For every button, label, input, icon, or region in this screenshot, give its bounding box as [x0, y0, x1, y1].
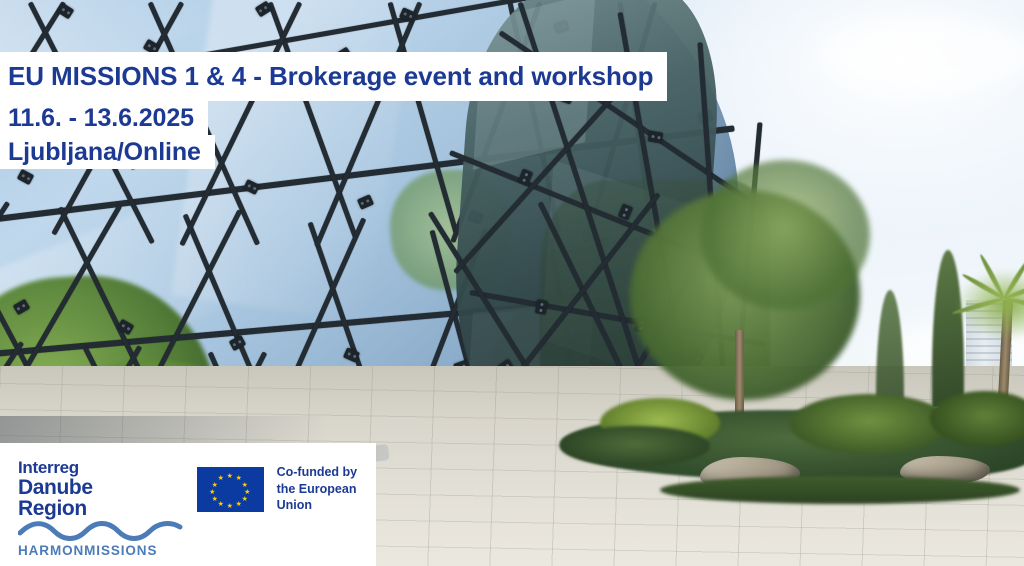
headline-line-3-panel: Ljubljana/Online [0, 135, 215, 169]
european-union-flag-icon: ★ ★ ★ ★ ★ ★ ★ ★ ★ ★ ★ ★ [197, 467, 264, 512]
harmonmissions-logo: HARMONMISSIONS [18, 519, 188, 558]
hedge [560, 426, 710, 466]
headline-line-1-panel: EU MISSIONS 1 & 4 - Brokerage event and … [0, 52, 667, 101]
headline-line-1: EU MISSIONS 1 & 4 - Brokerage event and … [8, 61, 653, 92]
event-banner: EU MISSIONS 1 & 4 - Brokerage event and … [0, 0, 1024, 566]
headline-line-2-panel: 11.6. - 13.6.2025 [0, 101, 208, 135]
interreg-danube-region-logo: Interreg Danube Region [18, 459, 143, 519]
ornamental-grass [790, 394, 950, 454]
eu-funding-line-1: Co-funded by [277, 464, 376, 481]
harmonmissions-wordmark: HARMONMISSIONS [18, 543, 188, 558]
tree-canopy [700, 160, 870, 310]
eu-funding-line-2: the European Union [277, 481, 376, 514]
logo-panel: Interreg Danube Region ★ ★ ★ ★ ★ ★ ★ ★ ★… [0, 443, 376, 566]
headline-line-3: Ljubljana/Online [8, 138, 201, 167]
wave-icon [18, 519, 184, 541]
groundcover [660, 476, 1020, 504]
logo-row: Interreg Danube Region ★ ★ ★ ★ ★ ★ ★ ★ ★… [18, 459, 376, 519]
interreg-wordmark: Interreg [18, 459, 143, 476]
danube-region-wordmark: Danube Region [18, 477, 143, 519]
headline-line-2: 11.6. - 13.6.2025 [8, 104, 194, 133]
eu-funding-statement: Co-funded by the European Union [277, 464, 376, 514]
